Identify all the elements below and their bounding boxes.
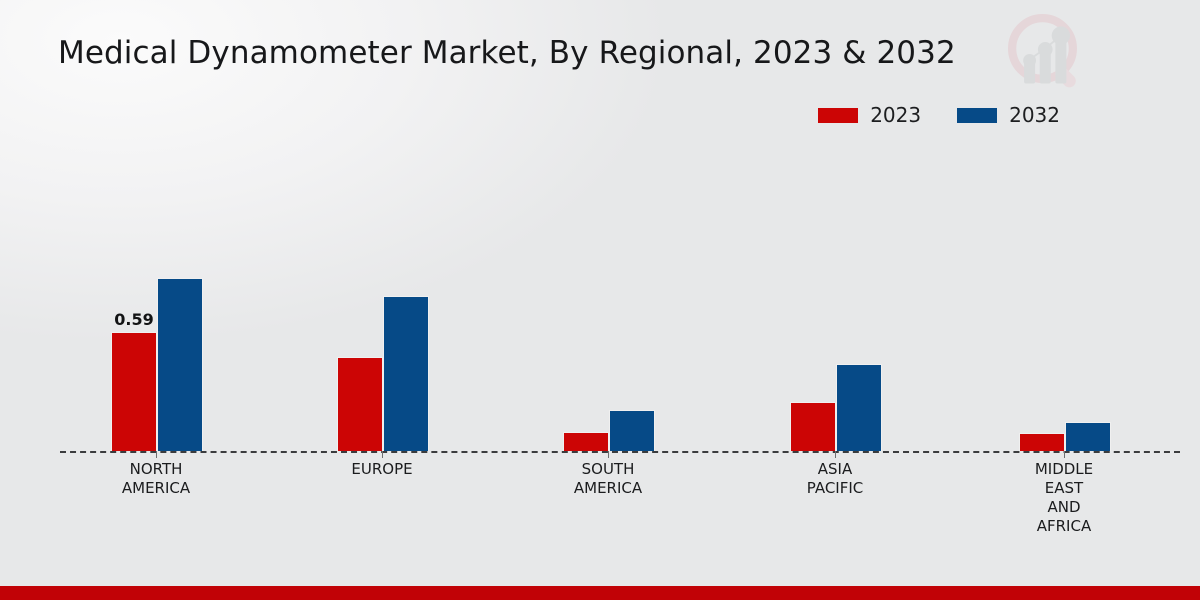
legend-item-2023[interactable]: 2023 [818, 103, 921, 127]
axis-baseline [60, 451, 1180, 453]
watermark-logo-icon [1002, 8, 1094, 100]
bar-2023-asia-pacific[interactable] [790, 402, 836, 451]
bar-2032-asia-pacific[interactable] [836, 364, 882, 451]
bar-2023-north-america[interactable]: 0.59 [111, 332, 157, 451]
legend-label-2032: 2032 [1009, 103, 1060, 127]
axis-tick [835, 451, 836, 458]
bottom-accent-strip [0, 586, 1200, 600]
bar-value-label: 0.59 [114, 310, 153, 329]
category-label-north-america: NORTH AMERICA [81, 460, 231, 498]
page-title: Medical Dynamometer Market, By Regional,… [58, 35, 956, 71]
category-label-europe: EUROPE [307, 460, 457, 479]
legend-swatch-2032 [957, 108, 997, 123]
chart-infographic: Medical Dynamometer Market, By Regional,… [0, 0, 1200, 600]
legend-item-2032[interactable]: 2032 [957, 103, 1060, 127]
bar-2032-europe[interactable] [383, 296, 429, 451]
legend-label-2023: 2023 [870, 103, 921, 127]
bar-2032-north-america[interactable] [157, 278, 203, 451]
bar-pair [337, 151, 429, 451]
bar-2023-middle-east-and-africa[interactable] [1019, 433, 1065, 451]
category-label-asia-pacific: ASIA PACIFIC [760, 460, 910, 498]
axis-tick [156, 451, 157, 458]
category-label-middle-east-and-africa: MIDDLE EAST AND AFRICA [989, 460, 1139, 536]
axis-tick [1064, 451, 1065, 458]
bar-2023-south-america[interactable] [563, 432, 609, 451]
bar-pair [790, 151, 882, 451]
axis-tick [608, 451, 609, 458]
bar-pair [1019, 151, 1111, 451]
bar-pair: 0.59 [111, 151, 203, 451]
category-label-south-america: SOUTH AMERICA [533, 460, 683, 498]
plot-area: 0.59 NORTH AMERICA EUROPE SOUTH AMERICA [60, 150, 1180, 452]
bar-2023-europe[interactable] [337, 357, 383, 451]
bar-2032-middle-east-and-africa[interactable] [1065, 422, 1111, 451]
legend-swatch-2023 [818, 108, 858, 123]
chart-legend: 2023 2032 [818, 103, 1060, 127]
axis-tick [382, 451, 383, 458]
bar-pair [563, 151, 655, 451]
bar-2032-south-america[interactable] [609, 410, 655, 451]
